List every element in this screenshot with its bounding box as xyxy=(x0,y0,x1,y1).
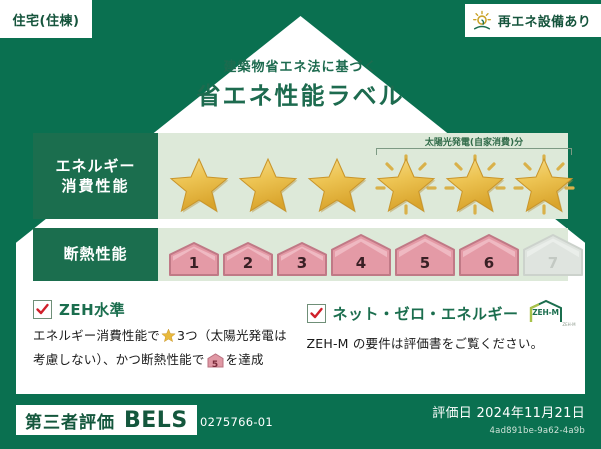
check-icon xyxy=(309,306,324,321)
insulation-grade-value: 7 xyxy=(522,254,584,272)
net-zero-heading: ネット・ゼロ・エネルギー ZEH-M ZEH-M xyxy=(307,299,571,328)
evaluation-date-label: 評価日 xyxy=(432,406,472,421)
label-subtitle: 建築物省エネ法に基づく xyxy=(0,56,601,75)
check-icon xyxy=(35,302,50,317)
zeh-standard-title: ZEH水準 xyxy=(59,299,125,320)
insulation-performance-panel: 1 2 3 4 5 6 7 xyxy=(158,228,568,281)
zeh-m-logo-subtext: ZEH-M xyxy=(562,322,575,327)
energy-label-root: 住宅(住棟) 再エネ設備あり 建築物省エネ法に基づく 省エネ性能ラベル xyxy=(0,0,601,449)
solar-annotation-text: 太陽光発電(自家消費)分 xyxy=(376,135,572,148)
star-solar xyxy=(373,153,439,215)
insulation-grade-badge: 2 xyxy=(222,241,274,277)
bels-jp-label: 第三者評価 xyxy=(25,408,115,433)
insulation-grade-value: 5 xyxy=(394,254,456,272)
building-type-tag: 住宅(住棟) xyxy=(0,0,92,38)
insulation-grade-badge: 7 xyxy=(522,233,584,277)
energy-label-line1: エネルギー xyxy=(55,156,135,176)
insulation-grade-badge: 3 xyxy=(276,241,328,277)
sun-solar-icon xyxy=(471,10,493,32)
zeh-m-logo-text: ZEH-M xyxy=(528,308,564,317)
insulation-grade-value: 2 xyxy=(222,254,274,272)
bels-plate: 第三者評価 BELS xyxy=(16,405,197,435)
insulation-grade-badge: 5 xyxy=(394,233,456,277)
zeh-m-logo-icon: ZEH-M ZEH-M xyxy=(528,299,564,328)
insulation-performance-label: 断熱性能 xyxy=(33,228,158,281)
inline-star-icon xyxy=(161,328,176,350)
document-hash: 4ad891be-9a62-4a9b xyxy=(490,426,585,436)
zeh-standard-description: エネルギー消費性能で3つ（太陽光発電は考慮しない）、かつ断熱性能で5を達成 xyxy=(33,326,297,374)
label-title: 省エネ性能ラベル xyxy=(0,76,601,111)
renewable-equipment-badge: 再エネ設備あり xyxy=(465,4,601,37)
insulation-label-text: 断熱性能 xyxy=(63,244,127,264)
net-zero-description: ZEH-M の要件は評価書をご覧ください。 xyxy=(307,334,571,355)
zeh-standard-heading: ZEH水準 xyxy=(33,299,297,320)
star-solar xyxy=(442,153,508,215)
evaluation-date-value: 2024年11月21日 xyxy=(477,406,585,421)
energy-performance-panel: 太陽光発電(自家消費)分 xyxy=(158,133,568,219)
certificate-number: 0275766-01 xyxy=(200,415,273,429)
insulation-grade-scale: 1 2 3 4 5 6 7 xyxy=(168,233,584,277)
bels-en-label: BELS xyxy=(124,408,188,433)
energy-label-line2: 消費性能 xyxy=(61,176,129,196)
insulation-grade-value: 3 xyxy=(276,254,328,272)
zeh-standard-block: ZEH水準 エネルギー消費性能で3つ（太陽光発電は考慮しない）、かつ断熱性能で5… xyxy=(33,299,297,374)
star-solar xyxy=(511,153,577,215)
energy-performance-row: エネルギー 消費性能 太陽光発電(自家消費)分 xyxy=(33,133,568,219)
insulation-performance-row: 断熱性能 1 2 3 4 5 6 7 xyxy=(33,228,568,281)
insulation-grade-badge: 6 xyxy=(458,233,520,277)
certification-checks: ZEH水準 エネルギー消費性能で3つ（太陽光発電は考慮しない）、かつ断熱性能で5… xyxy=(33,299,570,374)
inline-grade-value: 5 xyxy=(207,358,224,373)
energy-performance-label: エネルギー 消費性能 xyxy=(33,133,158,219)
evaluation-date: 評価日 2024年11月21日 xyxy=(432,402,585,421)
net-zero-energy-block: ネット・ゼロ・エネルギー ZEH-M ZEH-M ZEH-M の要件は評価書をご… xyxy=(297,299,571,374)
zeh-standard-checkbox[interactable] xyxy=(33,300,52,319)
insulation-grade-badge: 1 xyxy=(168,241,220,277)
star-base xyxy=(304,153,370,215)
building-type-label: 住宅(住棟) xyxy=(13,10,80,29)
zeh-desc-part1: エネルギー消費性能で xyxy=(33,328,160,343)
renewable-badge-label: 再エネ設備あり xyxy=(498,11,591,30)
insulation-grade-badge: 4 xyxy=(330,233,392,277)
insulation-grade-value: 6 xyxy=(458,254,520,272)
star-base xyxy=(166,153,232,215)
net-zero-title: ネット・ゼロ・エネルギー xyxy=(333,303,519,324)
energy-star-rating xyxy=(166,153,577,215)
zeh-desc-part3: を達成 xyxy=(226,352,264,367)
inline-grade-badge: 5 xyxy=(207,353,224,375)
insulation-grade-value: 1 xyxy=(168,254,220,272)
star-base xyxy=(235,153,301,215)
net-zero-checkbox[interactable] xyxy=(307,304,326,323)
insulation-grade-value: 4 xyxy=(330,254,392,272)
